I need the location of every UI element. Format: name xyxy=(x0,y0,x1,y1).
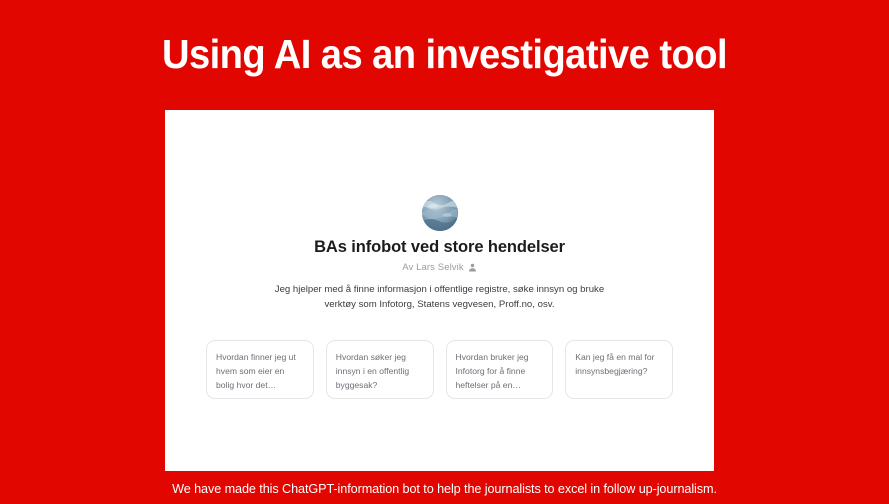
chatbot-welcome-screen: BAs infobot ved store hendelser Av Lars … xyxy=(165,110,714,471)
suggestion-card[interactable]: Hvordan bruker jeg Infotorg for å finne … xyxy=(446,340,554,399)
bot-author: Av Lars Selvik xyxy=(165,262,714,273)
slide-caption: We have made this ChatGPT-information bo… xyxy=(18,481,871,496)
water-texture-avatar xyxy=(422,195,458,231)
page-title: Using AI as an investigative tool xyxy=(31,32,858,77)
suggestion-prompts: Hvordan finner jeg ut hvem som eier en b… xyxy=(206,340,673,399)
bot-name: BAs infobot ved store hendelser xyxy=(165,238,714,257)
app-screenshot-card: BAs infobot ved store hendelser Av Lars … xyxy=(165,110,714,471)
bot-author-label: Av Lars Selvik xyxy=(402,262,463,273)
bot-description: Jeg hjelper med å finne informasjon i of… xyxy=(275,283,605,313)
suggestion-card[interactable]: Hvordan søker jeg innsyn i en offentlig … xyxy=(326,340,434,399)
suggestion-card[interactable]: Hvordan finner jeg ut hvem som eier en b… xyxy=(206,340,314,399)
person-icon xyxy=(468,263,477,272)
suggestion-card[interactable]: Kan jeg få en mal for innsynsbegjæring? xyxy=(565,340,673,399)
